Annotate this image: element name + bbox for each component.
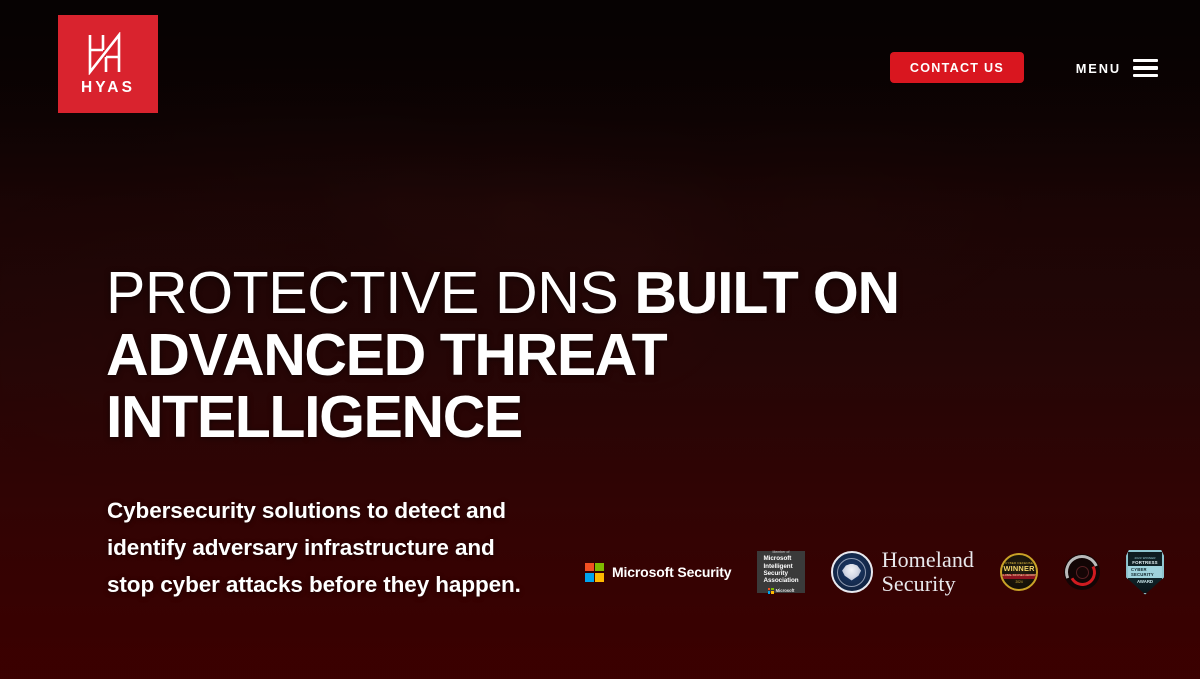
badge-misa[interactable]: Member of Microsoft Intelligent Security… xyxy=(757,551,804,593)
contact-us-button[interactable]: CONTACT US xyxy=(890,52,1024,83)
badge-homeland-security-label: Homeland Security xyxy=(882,548,974,596)
badge-microsoft-security-label: Microsoft Security xyxy=(612,564,731,580)
badge-homeland-line-2: Security xyxy=(882,571,956,596)
eagle-icon xyxy=(842,564,861,581)
badge-fortress-shield[interactable]: 2023 WINNER FORTRESS CYBER SECURITY AWAR… xyxy=(1126,549,1164,595)
badge-fortress-band: CYBER SECURITY xyxy=(1128,566,1162,578)
hyas-h-mark-icon xyxy=(85,32,131,75)
badge-misa-title-line-1: Microsoft Intelligent xyxy=(763,555,798,570)
award-coin-icon: CYBER DEFENSE WINNER GLOBAL INFOSEC AWAR… xyxy=(1000,553,1038,591)
badge-homeland-security[interactable]: Homeland Security xyxy=(831,548,974,596)
hamburger-icon[interactable] xyxy=(1133,59,1158,77)
badge-winner-band: GLOBAL INFOSEC AWARDS xyxy=(1000,574,1038,579)
badge-misa-title-line-2: Security Association xyxy=(763,570,798,585)
hero-section: HYAS CONTACT US MENU PROTECTIVE DNS BUIL… xyxy=(0,0,1200,679)
hyas-logo[interactable]: HYAS xyxy=(58,15,158,113)
homeland-security-seal-icon xyxy=(831,551,873,593)
hero-subhead: Cybersecurity solutions to detect and id… xyxy=(107,492,547,603)
hero-headline: PROTECTIVE DNS BUILT ON ADVANCED THREAT … xyxy=(106,262,1006,448)
partner-badges-row: Microsoft Security Member of Microsoft I… xyxy=(585,543,1125,601)
headline-line-2: ADVANCED THREAT xyxy=(106,324,1006,386)
menu-toggle[interactable]: MENU xyxy=(1076,53,1158,83)
headline-bold-part: BUILT ON xyxy=(634,260,899,326)
badge-winner-main: WINNER xyxy=(1003,565,1034,573)
site-header: HYAS CONTACT US MENU xyxy=(0,0,1200,130)
menu-label: MENU xyxy=(1076,61,1121,76)
badge-winner-year: 2024 xyxy=(1016,580,1023,584)
headline-line-3: INTELLIGENCE xyxy=(106,386,1006,448)
ring-logo-icon xyxy=(1064,554,1100,590)
headline-light-part: PROTECTIVE DNS xyxy=(106,260,634,326)
badge-fortress-mid: FORTRESS xyxy=(1132,560,1158,566)
microsoft-logo-icon xyxy=(585,563,604,582)
badge-homeland-line-1: Homeland xyxy=(882,547,974,572)
logo-wordmark: HYAS xyxy=(81,80,135,96)
headline-line-1: PROTECTIVE DNS BUILT ON xyxy=(106,262,1006,324)
fortress-shield-icon: 2023 WINNER FORTRESS CYBER SECURITY AWAR… xyxy=(1126,550,1164,595)
badge-winner-award[interactable]: CYBER DEFENSE WINNER GLOBAL INFOSEC AWAR… xyxy=(1000,551,1038,593)
badge-microsoft-security[interactable]: Microsoft Security xyxy=(585,563,731,582)
badge-misa-footer: Microsoft xyxy=(768,588,795,594)
microsoft-logo-icon-small xyxy=(768,588,774,594)
badge-fortress-sub: AWARD xyxy=(1137,579,1153,584)
badge-misa-footer-label: Microsoft xyxy=(776,588,795,593)
badge-ring-logo[interactable] xyxy=(1064,551,1100,593)
